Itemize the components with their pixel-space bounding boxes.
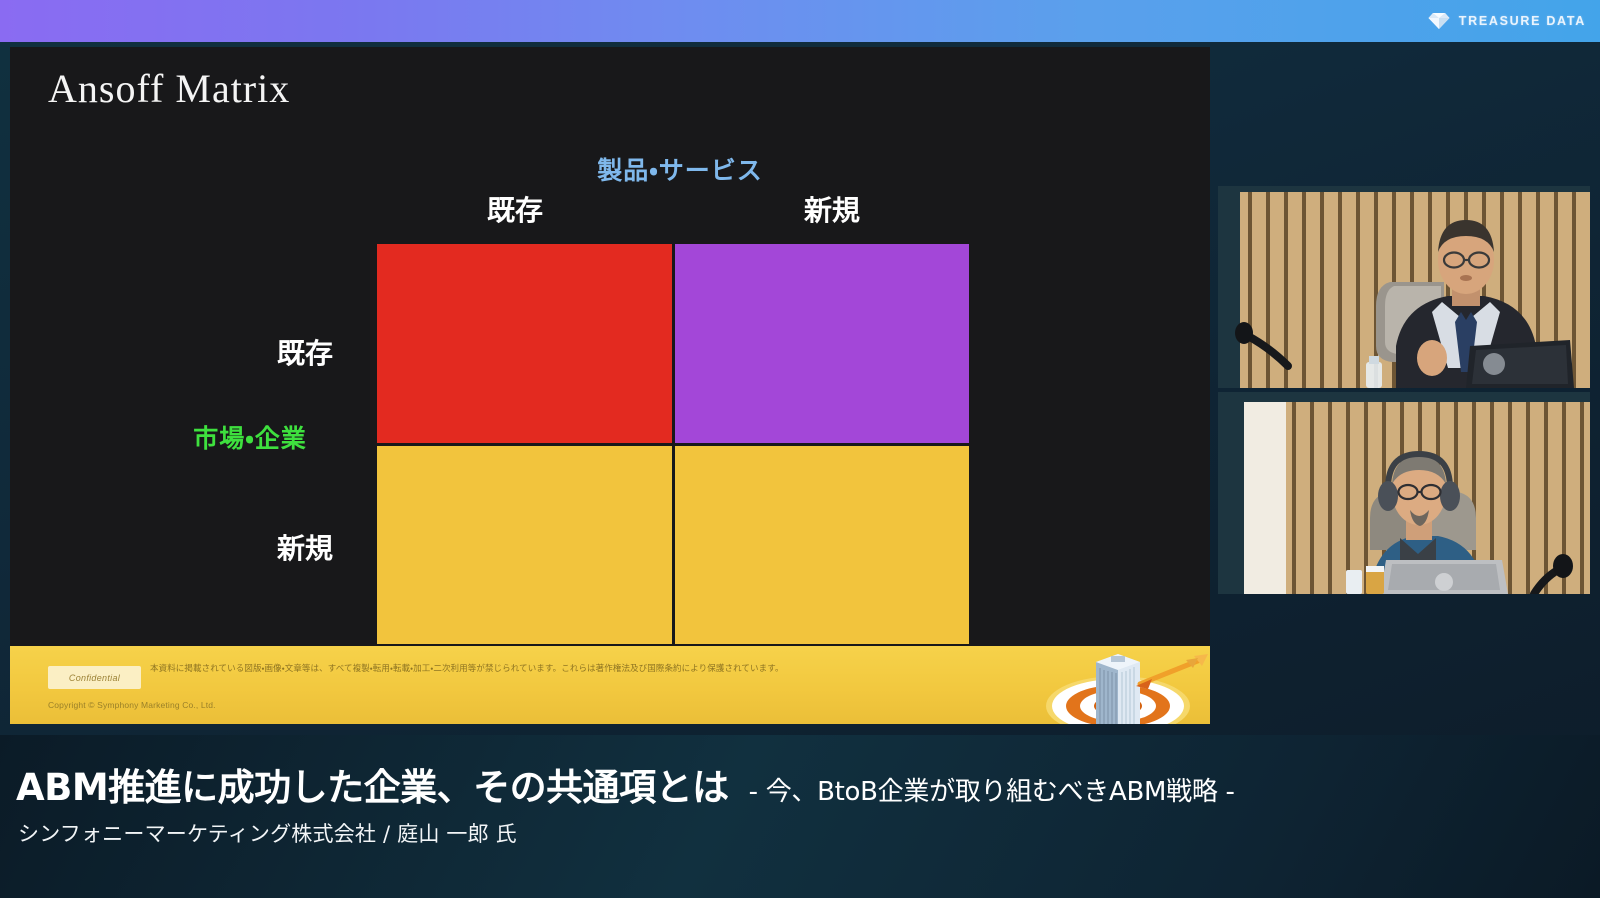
- ansoff-matrix: [377, 244, 969, 644]
- page-title: ABM推進に成功した企業、その共通項とは: [16, 757, 729, 811]
- brand-header-bar: TREASURE DATA: [0, 0, 1600, 42]
- column-axis-label: 製品・サービス: [570, 151, 790, 187]
- speaker-video-secondary[interactable]: [1218, 392, 1590, 594]
- slide-footer: Confidential 本資料に掲載されている図版・画像・文章等は、すべて複製…: [10, 646, 1210, 724]
- row-header-new: 新規: [215, 527, 395, 567]
- slide-title: Ansoff Matrix: [48, 65, 290, 112]
- row-axis-label: 市場・企業: [150, 419, 350, 455]
- confidential-badge: Confidential: [48, 666, 141, 689]
- building-on-target-icon: [1018, 646, 1210, 724]
- slide-viewport[interactable]: Ansoff Matrix 製品・サービス 既存 新規 市場・企業 既存 新規 …: [10, 47, 1210, 724]
- matrix-cell-product-development: [675, 244, 970, 443]
- video-frame-main: [1218, 186, 1590, 388]
- matrix-cell-market-penetration: [377, 244, 672, 443]
- column-header-existing: 既存: [435, 189, 595, 229]
- brand-logo: TREASURE DATA: [1428, 0, 1586, 42]
- title-row: ABM推進に成功した企業、その共通項とは - 今、BtoB企業が取り組むべきAB…: [16, 757, 1235, 811]
- speaker-video-main[interactable]: [1218, 186, 1590, 388]
- row-header-existing: 既存: [215, 332, 395, 372]
- footer-legal-text: 本資料に掲載されている図版・画像・文章等は、すべて複製・転用・転載・加工・二次利…: [150, 663, 790, 675]
- matrix-cell-market-development: [377, 446, 672, 645]
- video-frame-secondary: [1218, 392, 1590, 594]
- footer-copyright: Copyright © Symphony Marketing Co., Ltd.: [48, 700, 216, 710]
- column-header-new: 新規: [752, 189, 912, 229]
- webinar-player: TREASURE DATA Ansoff Matrix 製品・サービス 既存 新…: [0, 0, 1600, 898]
- diamond-icon: [1428, 12, 1450, 30]
- brand-name: TREASURE DATA: [1459, 14, 1586, 28]
- bottom-title-bar: ABM推進に成功した企業、その共通項とは - 今、BtoB企業が取り組むべきAB…: [0, 735, 1600, 898]
- matrix-cell-diversification: [675, 446, 970, 645]
- speaker-credit: シンフォニーマーケティング株式会社 / 庭山 一郎 氏: [18, 818, 517, 848]
- page-subtitle: - 今、BtoB企業が取り組むべきABM戦略 -: [749, 771, 1235, 808]
